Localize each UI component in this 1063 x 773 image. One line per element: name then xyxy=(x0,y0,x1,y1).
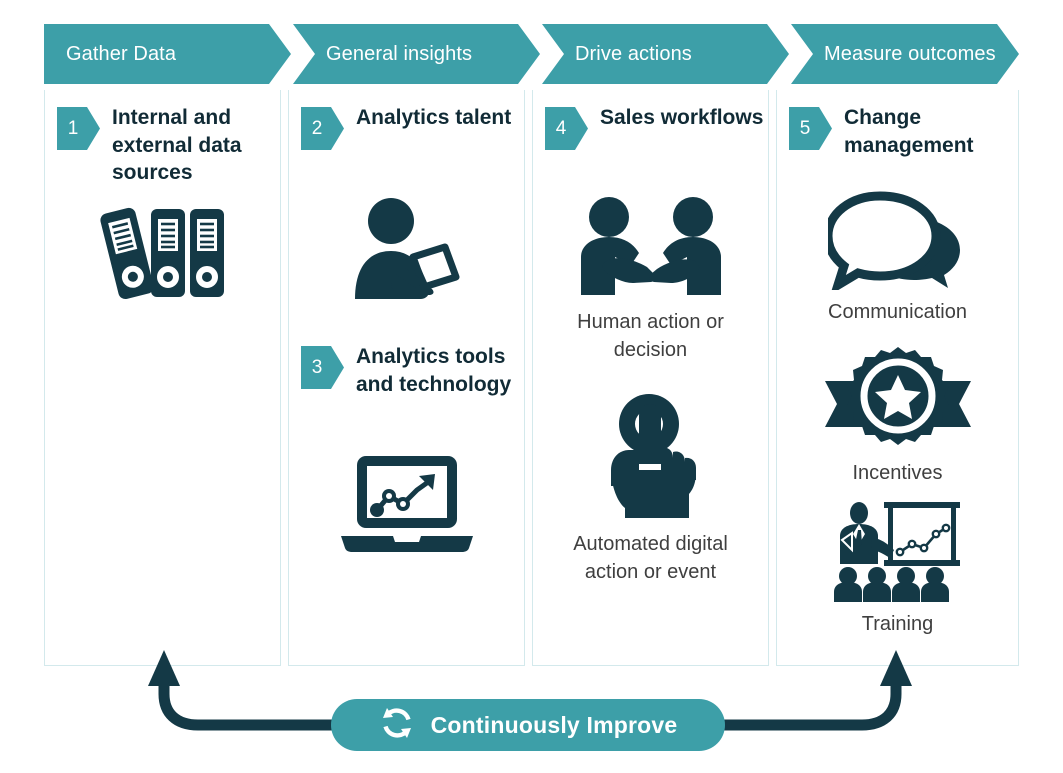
step-header: 3 Analytics tools and technology xyxy=(289,343,524,398)
step-1: 1 Internal and external data sources xyxy=(45,104,280,187)
step-4: 4 Sales workflows xyxy=(533,104,768,150)
phase-header-row: Gather Data General insights Drive actio… xyxy=(44,24,1019,84)
diagram-canvas: Gather Data General insights Drive actio… xyxy=(0,0,1063,768)
step-title: Sales workflows xyxy=(600,104,763,132)
continuously-improve-banner[interactable]: Continuously Improve xyxy=(331,699,725,751)
phase-label: Gather Data xyxy=(66,43,176,66)
laptop-chart-icon xyxy=(289,450,524,555)
step-number-badge: 1 xyxy=(57,107,100,150)
column-gather-data: 1 Internal and external data sources xyxy=(44,90,281,666)
arrow-up-icon xyxy=(880,650,912,686)
column-measure-outcomes: 5 Change management Communication xyxy=(776,90,1019,666)
phase-label: Drive actions xyxy=(575,43,692,66)
training-presentation-icon xyxy=(777,500,1018,602)
phase-header-gather-data[interactable]: Gather Data xyxy=(44,24,291,84)
step-number-badge: 3 xyxy=(301,346,344,389)
banner-label: Continuously Improve xyxy=(431,712,678,739)
phase-label: Measure outcomes xyxy=(824,43,996,66)
icon-block-incentives: Incentives xyxy=(777,345,1018,487)
step-header: 4 Sales workflows xyxy=(533,104,768,150)
speech-bubbles-icon xyxy=(777,190,1018,290)
caption-training: Training xyxy=(777,610,1018,638)
icon-block-communication: Communication xyxy=(777,190,1018,326)
step-title: Change management xyxy=(844,104,1018,159)
step-3: 3 Analytics tools and technology xyxy=(289,343,524,398)
step-number-badge: 5 xyxy=(789,107,832,150)
icon-block-person-reading xyxy=(289,195,524,303)
column-drive-actions: 4 Sales workflows xyxy=(532,90,769,666)
award-badge-icon xyxy=(777,345,1018,451)
step-title: Internal and external data sources xyxy=(112,104,280,187)
phase-columns: 1 Internal and external data sources xyxy=(44,90,1019,666)
column-general-insights: 2 Analytics talent xyxy=(288,90,525,666)
icon-block-training: Training xyxy=(777,500,1018,638)
caption-automated-action: Automated digital action or event xyxy=(533,530,768,587)
caption-communication: Communication xyxy=(777,298,1018,326)
phase-header-measure-outcomes[interactable]: Measure outcomes xyxy=(791,24,1019,84)
phase-header-drive-actions[interactable]: Drive actions xyxy=(542,24,789,84)
caption-incentives: Incentives xyxy=(777,459,1018,487)
caption-human-action: Human action or decision xyxy=(533,308,768,365)
binders-icon xyxy=(45,205,280,300)
icon-block-laptop-chart xyxy=(289,450,524,555)
icon-block-handshake: Human action or decision xyxy=(533,195,768,365)
person-reading-icon xyxy=(289,195,524,303)
step-header: 5 Change management xyxy=(777,104,1018,159)
step-header: 1 Internal and external data sources xyxy=(45,104,280,187)
step-number-badge: 2 xyxy=(301,107,344,150)
phase-label: General insights xyxy=(326,43,472,66)
step-title: Analytics tools and technology xyxy=(356,343,524,398)
handshake-icon xyxy=(533,195,768,300)
step-title: Analytics talent xyxy=(356,104,511,132)
icon-block-tap-hand: Automated digital action or event xyxy=(533,390,768,587)
tap-hand-icon xyxy=(533,390,768,522)
phase-header-general-insights[interactable]: General insights xyxy=(293,24,540,84)
arrow-up-icon xyxy=(148,650,180,686)
step-2: 2 Analytics talent xyxy=(289,104,524,150)
step-5: 5 Change management xyxy=(777,104,1018,159)
step-number-badge: 4 xyxy=(545,107,588,150)
icon-block-binders xyxy=(45,205,280,300)
step-header: 2 Analytics talent xyxy=(289,104,524,150)
refresh-cycle-icon xyxy=(379,705,415,746)
